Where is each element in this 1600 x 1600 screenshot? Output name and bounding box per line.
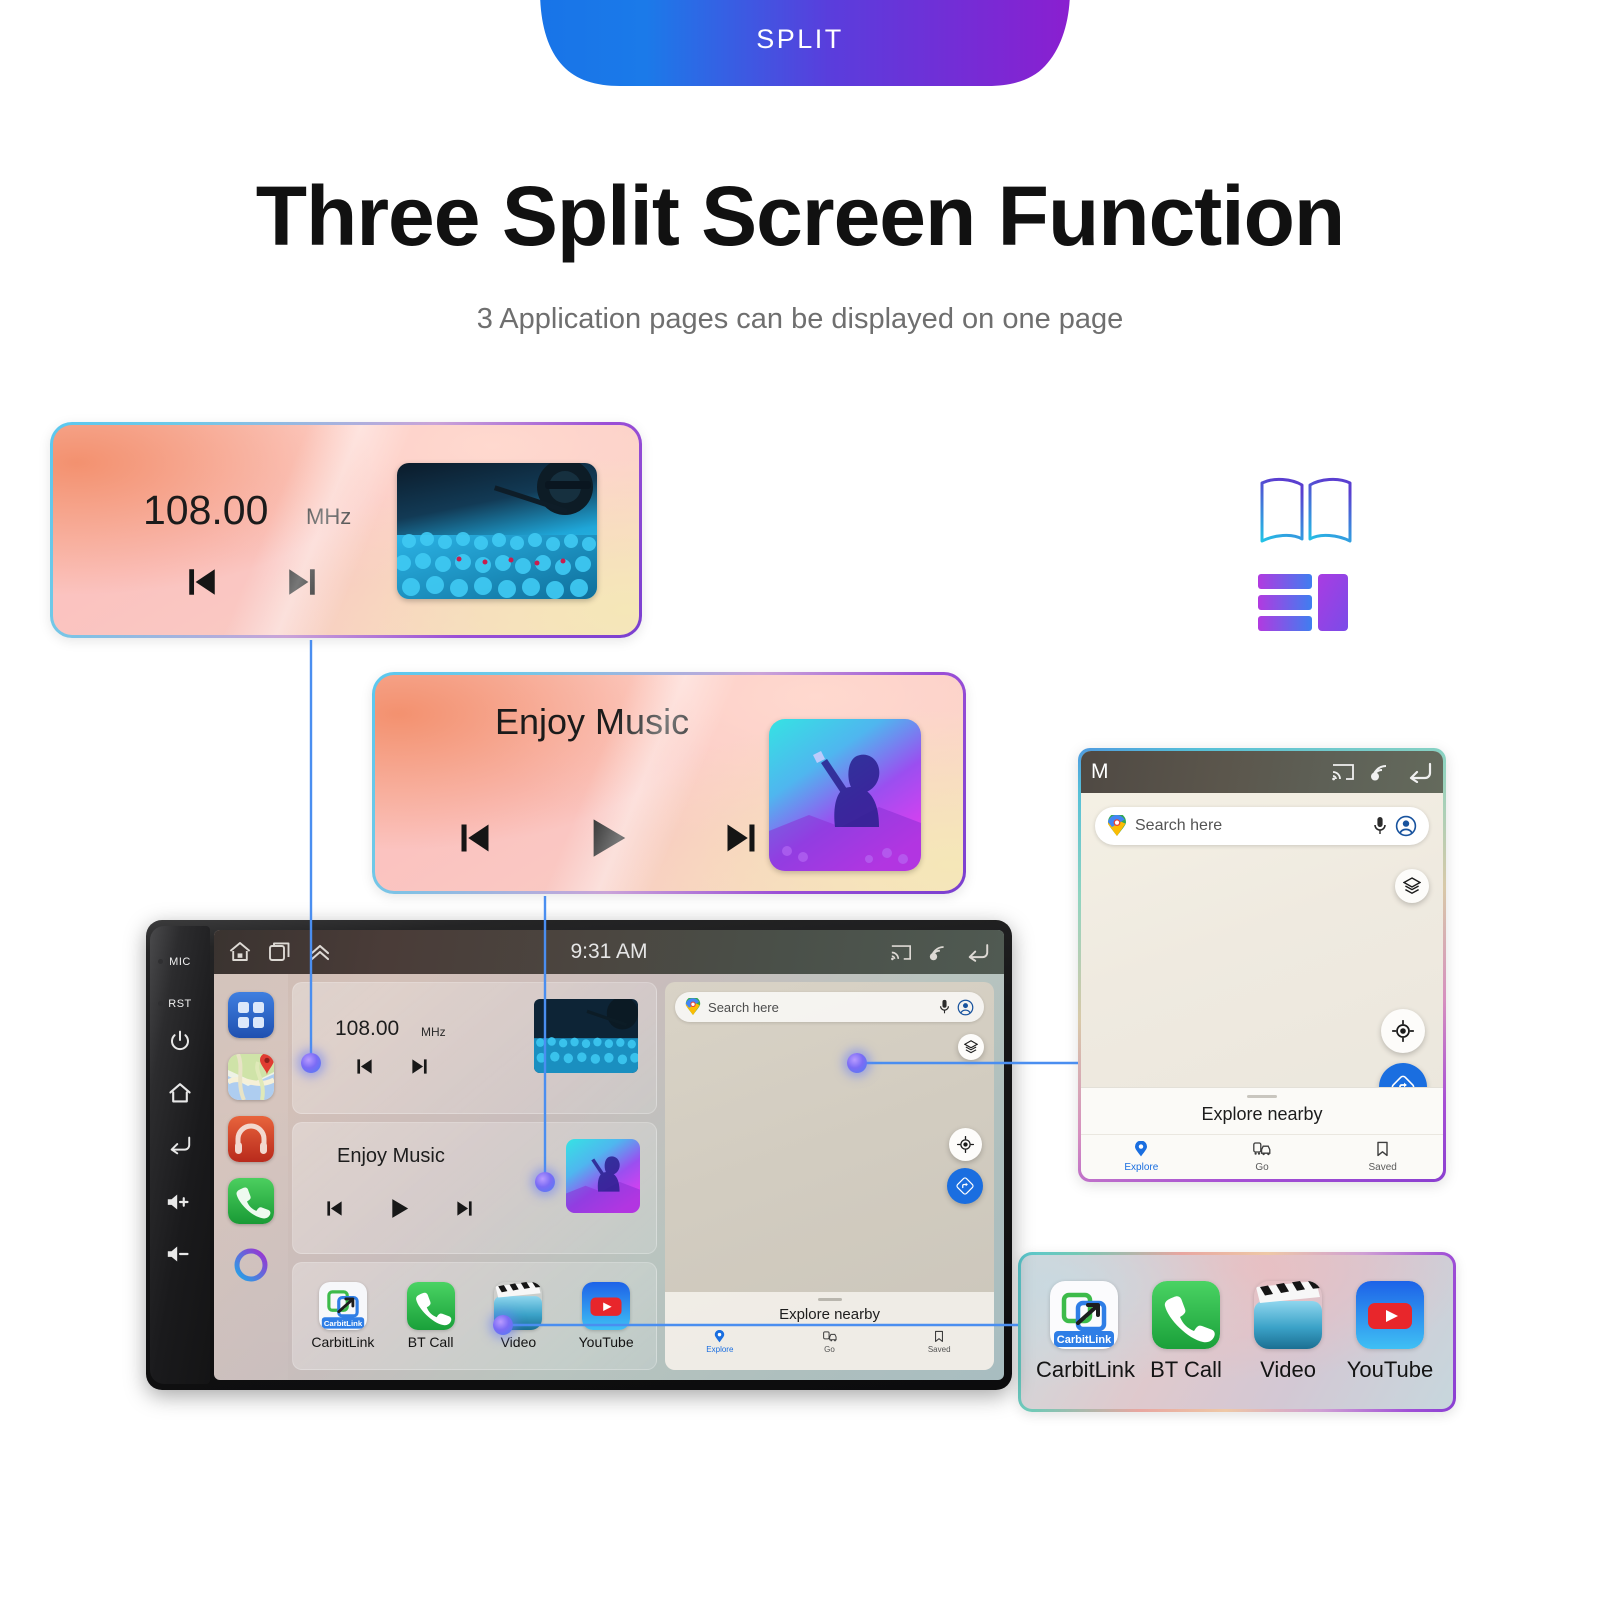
map-tab-label: Explore [1081,1162,1202,1173]
pane-app-carbitlink[interactable]: CarbitLink CarbitLink [308,1282,378,1350]
map-search-bar[interactable]: Search here [1095,807,1429,845]
bookmark-icon [934,1330,944,1343]
pane-music-title: Enjoy Music [337,1145,445,1168]
back-icon [168,1134,192,1156]
map-tab-explore[interactable]: Explore [665,1330,775,1354]
banner-label: SPLIT [0,24,1600,55]
next-track-icon[interactable] [455,1199,474,1218]
pin-icon [1134,1141,1148,1157]
cast-icon[interactable] [890,943,912,962]
layers-icon [1403,877,1421,895]
app-tile-youtube[interactable]: YouTube [1342,1281,1438,1383]
my-location-icon [1392,1020,1414,1042]
connector-node-music [535,1172,555,1192]
next-track-icon[interactable] [285,565,319,599]
maps-pin-logo [1107,815,1127,837]
microphone-icon[interactable] [939,999,950,1015]
phone-icon [407,1282,455,1330]
music-icon[interactable] [228,1116,274,1162]
dual-panel-book-icon [1258,475,1354,547]
clapperboard-icon [1254,1281,1322,1349]
map-body[interactable]: Search here [1081,793,1443,1179]
map-topbar: M [1081,751,1443,793]
locate-button[interactable] [1381,1009,1425,1053]
back-icon[interactable] [1407,761,1433,783]
status-clock: 9:31 AM [214,940,1004,964]
radio-frequency-unit: MHz [306,504,351,530]
top-banner: SPLIT [0,0,1600,92]
radio-frequency: 108.00 [143,487,268,534]
layers-icon [964,1040,978,1054]
rst-indicator: RST [150,994,210,1012]
split-screen-panes: 108.00 MHz [288,974,1004,1380]
back-button[interactable] [150,1134,210,1161]
directions-button[interactable] [947,1168,983,1204]
split-layout-icon [1256,572,1350,634]
screen-status-bar: 9:31 AM [214,930,1004,974]
volume-down-icon [165,1244,195,1264]
sheet-grip[interactable] [1247,1095,1277,1098]
music-controls [457,815,759,861]
youtube-icon [1356,1281,1424,1349]
locate-button[interactable] [949,1128,982,1161]
microphone-icon[interactable] [1373,816,1387,836]
connector-node-radio [301,1053,321,1073]
carbitlink-icon: CarbitLink [319,1282,367,1330]
mic-indicator: MIC [150,952,210,970]
app-label: YouTube [571,1334,641,1350]
page-subtitle: 3 Application pages can be displayed on … [0,303,1600,336]
head-unit-device: MIC RST [146,920,1012,1390]
phone-icon [1152,1281,1220,1349]
bookmark-icon [1376,1141,1389,1157]
directions-icon [956,1177,974,1195]
wifi-icon[interactable] [928,943,950,962]
pane-radio-frequency: 108.00 [335,1017,399,1041]
home-icon [168,1082,192,1104]
map-tab-saved[interactable]: Saved [884,1330,994,1354]
app-label: CarbitLink [308,1334,378,1350]
my-location-icon [957,1136,974,1153]
rst-label: RST [168,998,192,1010]
map-callout-card: M [1078,748,1446,1182]
pane-app-bt-call[interactable]: BT Call [396,1282,466,1350]
app-label: BT Call [396,1334,466,1350]
maps-icon[interactable] [228,1054,274,1100]
pane-apps[interactable]: CarbitLink CarbitLink [292,1262,657,1370]
music-callout-card: Enjoy Music [372,672,966,894]
layers-button[interactable] [1395,869,1429,903]
assistant-ring-icon[interactable] [232,1246,270,1284]
map-bottom-sheet[interactable]: Explore nearby Explore [1081,1087,1443,1179]
map-tab-go[interactable]: Go [775,1330,885,1354]
next-track-icon[interactable] [410,1057,429,1076]
commute-icon [1253,1141,1271,1157]
pane-app-youtube[interactable]: YouTube [571,1282,641,1350]
radio-thumbnail [397,463,597,599]
map-tab-saved[interactable]: Saved [1322,1141,1443,1173]
pane-radio-thumbnail [534,999,638,1073]
page-title: Three Split Screen Function [0,168,1600,265]
previous-track-icon[interactable] [355,1057,374,1076]
power-icon [169,1030,191,1052]
music-title: Enjoy Music [495,701,689,743]
pane-map-search[interactable]: Search here [675,992,984,1022]
app-tile-bt-call[interactable]: BT Call [1138,1281,1234,1383]
maps-pin-logo [685,998,701,1016]
radio-callout-card: 108.00 MHz [50,422,642,638]
next-track-icon[interactable] [723,820,759,856]
svg-text:CarbitLink: CarbitLink [324,1319,363,1328]
commute-icon [823,1330,837,1343]
previous-track-icon[interactable] [185,565,219,599]
app-label: Video [483,1334,553,1350]
account-icon[interactable] [1395,815,1417,837]
wifi-icon[interactable] [1369,762,1393,782]
previous-track-icon[interactable] [457,820,493,856]
volume-down-button[interactable] [150,1244,210,1269]
map-tab-go[interactable]: Go [1202,1141,1323,1173]
app-tile-carbitlink[interactable]: CarbitLink CarbitLink [1036,1281,1132,1383]
device-screen[interactable]: 9:31 AM [214,930,1004,1380]
pane-radio-unit: MHz [421,1025,446,1039]
pin-icon [714,1330,725,1343]
apps-callout-card: CarbitLink CarbitLink BT Call [1018,1252,1456,1412]
app-tile-video[interactable]: Video [1240,1281,1336,1383]
map-brand-label: M [1091,760,1109,784]
map-search-placeholder: Search here [1135,817,1365,835]
album-art [769,719,921,871]
youtube-icon [582,1282,630,1330]
cast-icon[interactable] [1331,762,1355,782]
app-label: Video [1240,1357,1336,1383]
back-icon[interactable] [966,942,990,963]
connector-node-map [847,1053,867,1073]
pane-radio[interactable]: 108.00 MHz [292,982,657,1114]
connector-node-apps [493,1315,513,1335]
pane-music[interactable]: Enjoy Music [292,1122,657,1254]
screen-dock [214,974,288,1380]
pane-map-search-placeholder: Search here [708,1000,932,1015]
explore-nearby-title: Explore nearby [1081,1104,1443,1125]
mic-label: MIC [169,956,191,968]
previous-track-icon[interactable] [325,1199,344,1218]
layers-button[interactable] [958,1034,984,1060]
map-tabbar: Explore Go [1081,1134,1443,1173]
volume-up-button[interactable] [150,1192,210,1217]
home-button[interactable] [150,1082,210,1109]
pane-app-video[interactable]: Video [483,1282,553,1350]
app-label: CarbitLink [1036,1357,1132,1383]
map-tab-explore[interactable]: Explore [1081,1141,1202,1173]
map-tab-label: Saved [1322,1162,1443,1173]
volume-up-icon [165,1192,195,1212]
account-icon[interactable] [957,999,974,1016]
all-apps-icon[interactable] [228,992,274,1038]
sheet-grip[interactable] [818,1298,842,1301]
map-tab-label: Go [775,1345,885,1354]
pane-map-sheet[interactable]: Explore nearby Explore [665,1292,994,1370]
svg-text:CarbitLink: CarbitLink [1057,1334,1112,1346]
power-button[interactable] [150,1030,210,1057]
map-tab-label: Explore [665,1345,775,1354]
map-tab-label: Go [1202,1162,1323,1173]
device-left-bezel: MIC RST [150,926,210,1384]
play-icon[interactable] [585,815,631,861]
app-label: BT Call [1138,1357,1234,1383]
radio-controls [185,565,319,599]
carbitlink-icon: CarbitLink [1050,1281,1118,1349]
explore-nearby-title: Explore nearby [665,1306,994,1323]
pane-album-art [566,1139,640,1213]
play-icon[interactable] [388,1197,411,1220]
phone-icon[interactable] [228,1178,274,1224]
app-label: YouTube [1342,1357,1438,1383]
pane-map[interactable]: Search here [665,982,994,1370]
map-tab-label: Saved [884,1345,994,1354]
